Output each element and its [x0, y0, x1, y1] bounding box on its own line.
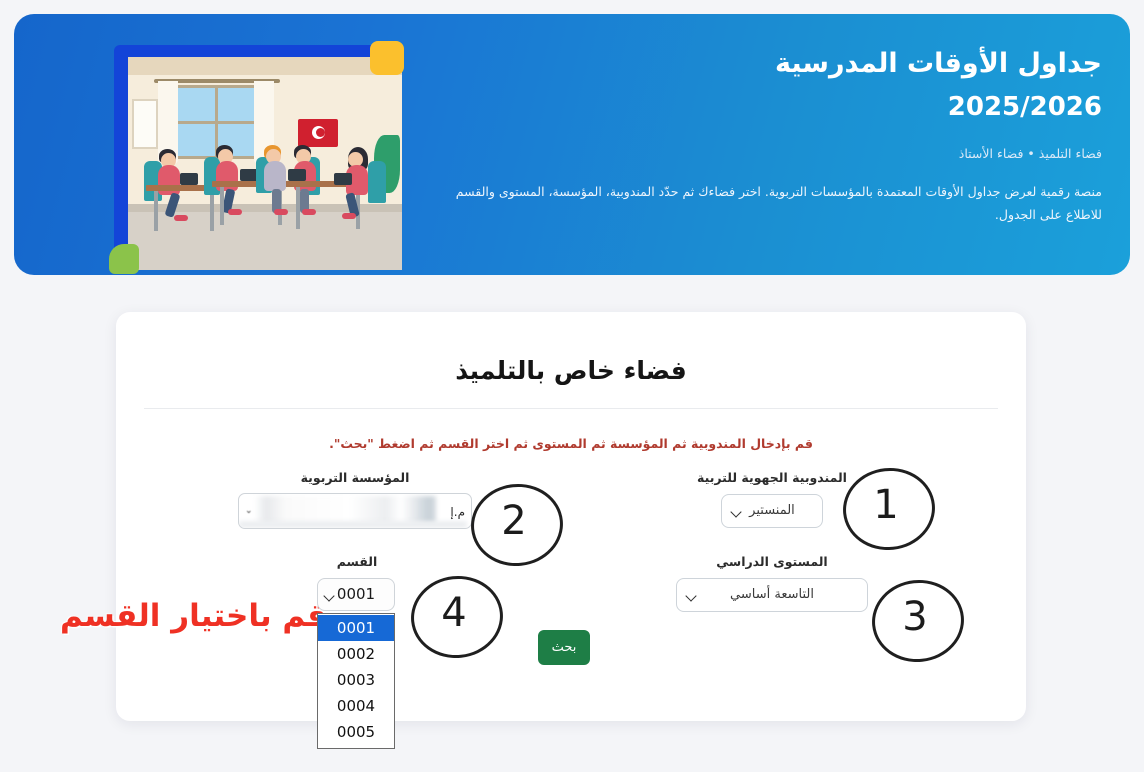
laptop	[334, 173, 352, 185]
level-select[interactable]: التاسعة أساسي	[676, 578, 868, 612]
redacted-value	[243, 496, 436, 524]
green-accent-circle	[109, 244, 139, 274]
hero-text-block: جداول الأوقات المدرسية 2025/2026 فضاء ال…	[442, 44, 1102, 226]
illustration-canvas	[128, 57, 402, 270]
level-value: التاسعة أساسي	[730, 587, 814, 602]
chair	[368, 161, 386, 203]
floor	[128, 212, 402, 270]
desk-leg	[296, 187, 300, 229]
illustration-frame	[114, 45, 400, 270]
annotation-circle-1: 1	[843, 468, 929, 544]
instructions-text: قم بإدخال المندوبية ثم المؤسسة ثم المستو…	[116, 436, 1026, 451]
delegation-select[interactable]: المنستير	[721, 494, 823, 528]
laptop	[288, 169, 306, 181]
class-label: القسم	[295, 554, 419, 569]
class-option[interactable]: 0004	[318, 693, 394, 719]
tunisia-flag	[298, 119, 338, 147]
class-value: 0001	[337, 585, 375, 603]
card-title: فضاء خاص بالتلميذ	[116, 356, 1026, 385]
annotation-number-3: 3	[902, 594, 927, 640]
desk-leg	[220, 187, 224, 225]
annotation-number-1: 1	[873, 482, 898, 528]
chevron-down-icon	[732, 508, 741, 517]
institution-input[interactable]: م.إ ⌄	[238, 493, 472, 529]
annotation-number-4: 4	[441, 590, 466, 636]
annotation-circle-3: 3	[872, 580, 958, 656]
hero-description: منصة رقمية لعرض جداول الأوقات المعتمدة ب…	[442, 180, 1102, 226]
search-button[interactable]: بحث	[538, 630, 590, 665]
academic-year: 2025/2026	[442, 87, 1102, 127]
shoe	[228, 209, 242, 215]
class-option[interactable]: 0003	[318, 667, 394, 693]
class-option[interactable]: 0001	[318, 615, 394, 641]
laptop	[180, 173, 198, 185]
redacted-value-shadow	[239, 521, 467, 528]
wall-top	[128, 57, 402, 75]
whiteboard	[132, 99, 158, 149]
annotation-note-choose-class: قم باختيار القسم	[60, 598, 327, 634]
chevron-down-icon: ⌄	[245, 506, 253, 516]
annotation-circle-2: 2	[471, 484, 557, 560]
class-select[interactable]: 0001	[317, 578, 395, 611]
classroom-illustration	[106, 39, 406, 275]
annotation-circle-4: 4	[411, 576, 497, 652]
class-option[interactable]: 0002	[318, 641, 394, 667]
institution-label: المؤسسة التربوية	[243, 470, 467, 485]
hero-banner: جداول الأوقات المدرسية 2025/2026 فضاء ال…	[14, 14, 1130, 275]
yellow-accent-square	[370, 41, 404, 75]
chevron-down-icon	[687, 592, 696, 601]
delegation-value: المنستير	[749, 503, 795, 518]
institution-value: م.إ	[450, 499, 465, 525]
level-label: المستوى الدراسي	[660, 554, 884, 569]
class-option[interactable]: 0005	[318, 719, 394, 745]
desk-leg	[154, 191, 158, 231]
class-dropdown-list[interactable]: 0001 0002 0003 0004 0005	[317, 613, 395, 749]
desk-leg	[210, 191, 214, 231]
chevron-down-icon	[325, 592, 334, 601]
shoe	[302, 209, 316, 215]
shoe	[274, 209, 288, 215]
annotation-number-2: 2	[501, 498, 526, 544]
body	[264, 161, 286, 191]
divider	[144, 408, 998, 409]
page-title: جداول الأوقات المدرسية	[442, 44, 1102, 83]
flag-crescent	[312, 126, 325, 139]
hero-subtitle: فضاء التلميذ • فضاء الأستاذ	[442, 145, 1102, 164]
shoe	[174, 215, 188, 221]
shoe	[342, 213, 356, 219]
